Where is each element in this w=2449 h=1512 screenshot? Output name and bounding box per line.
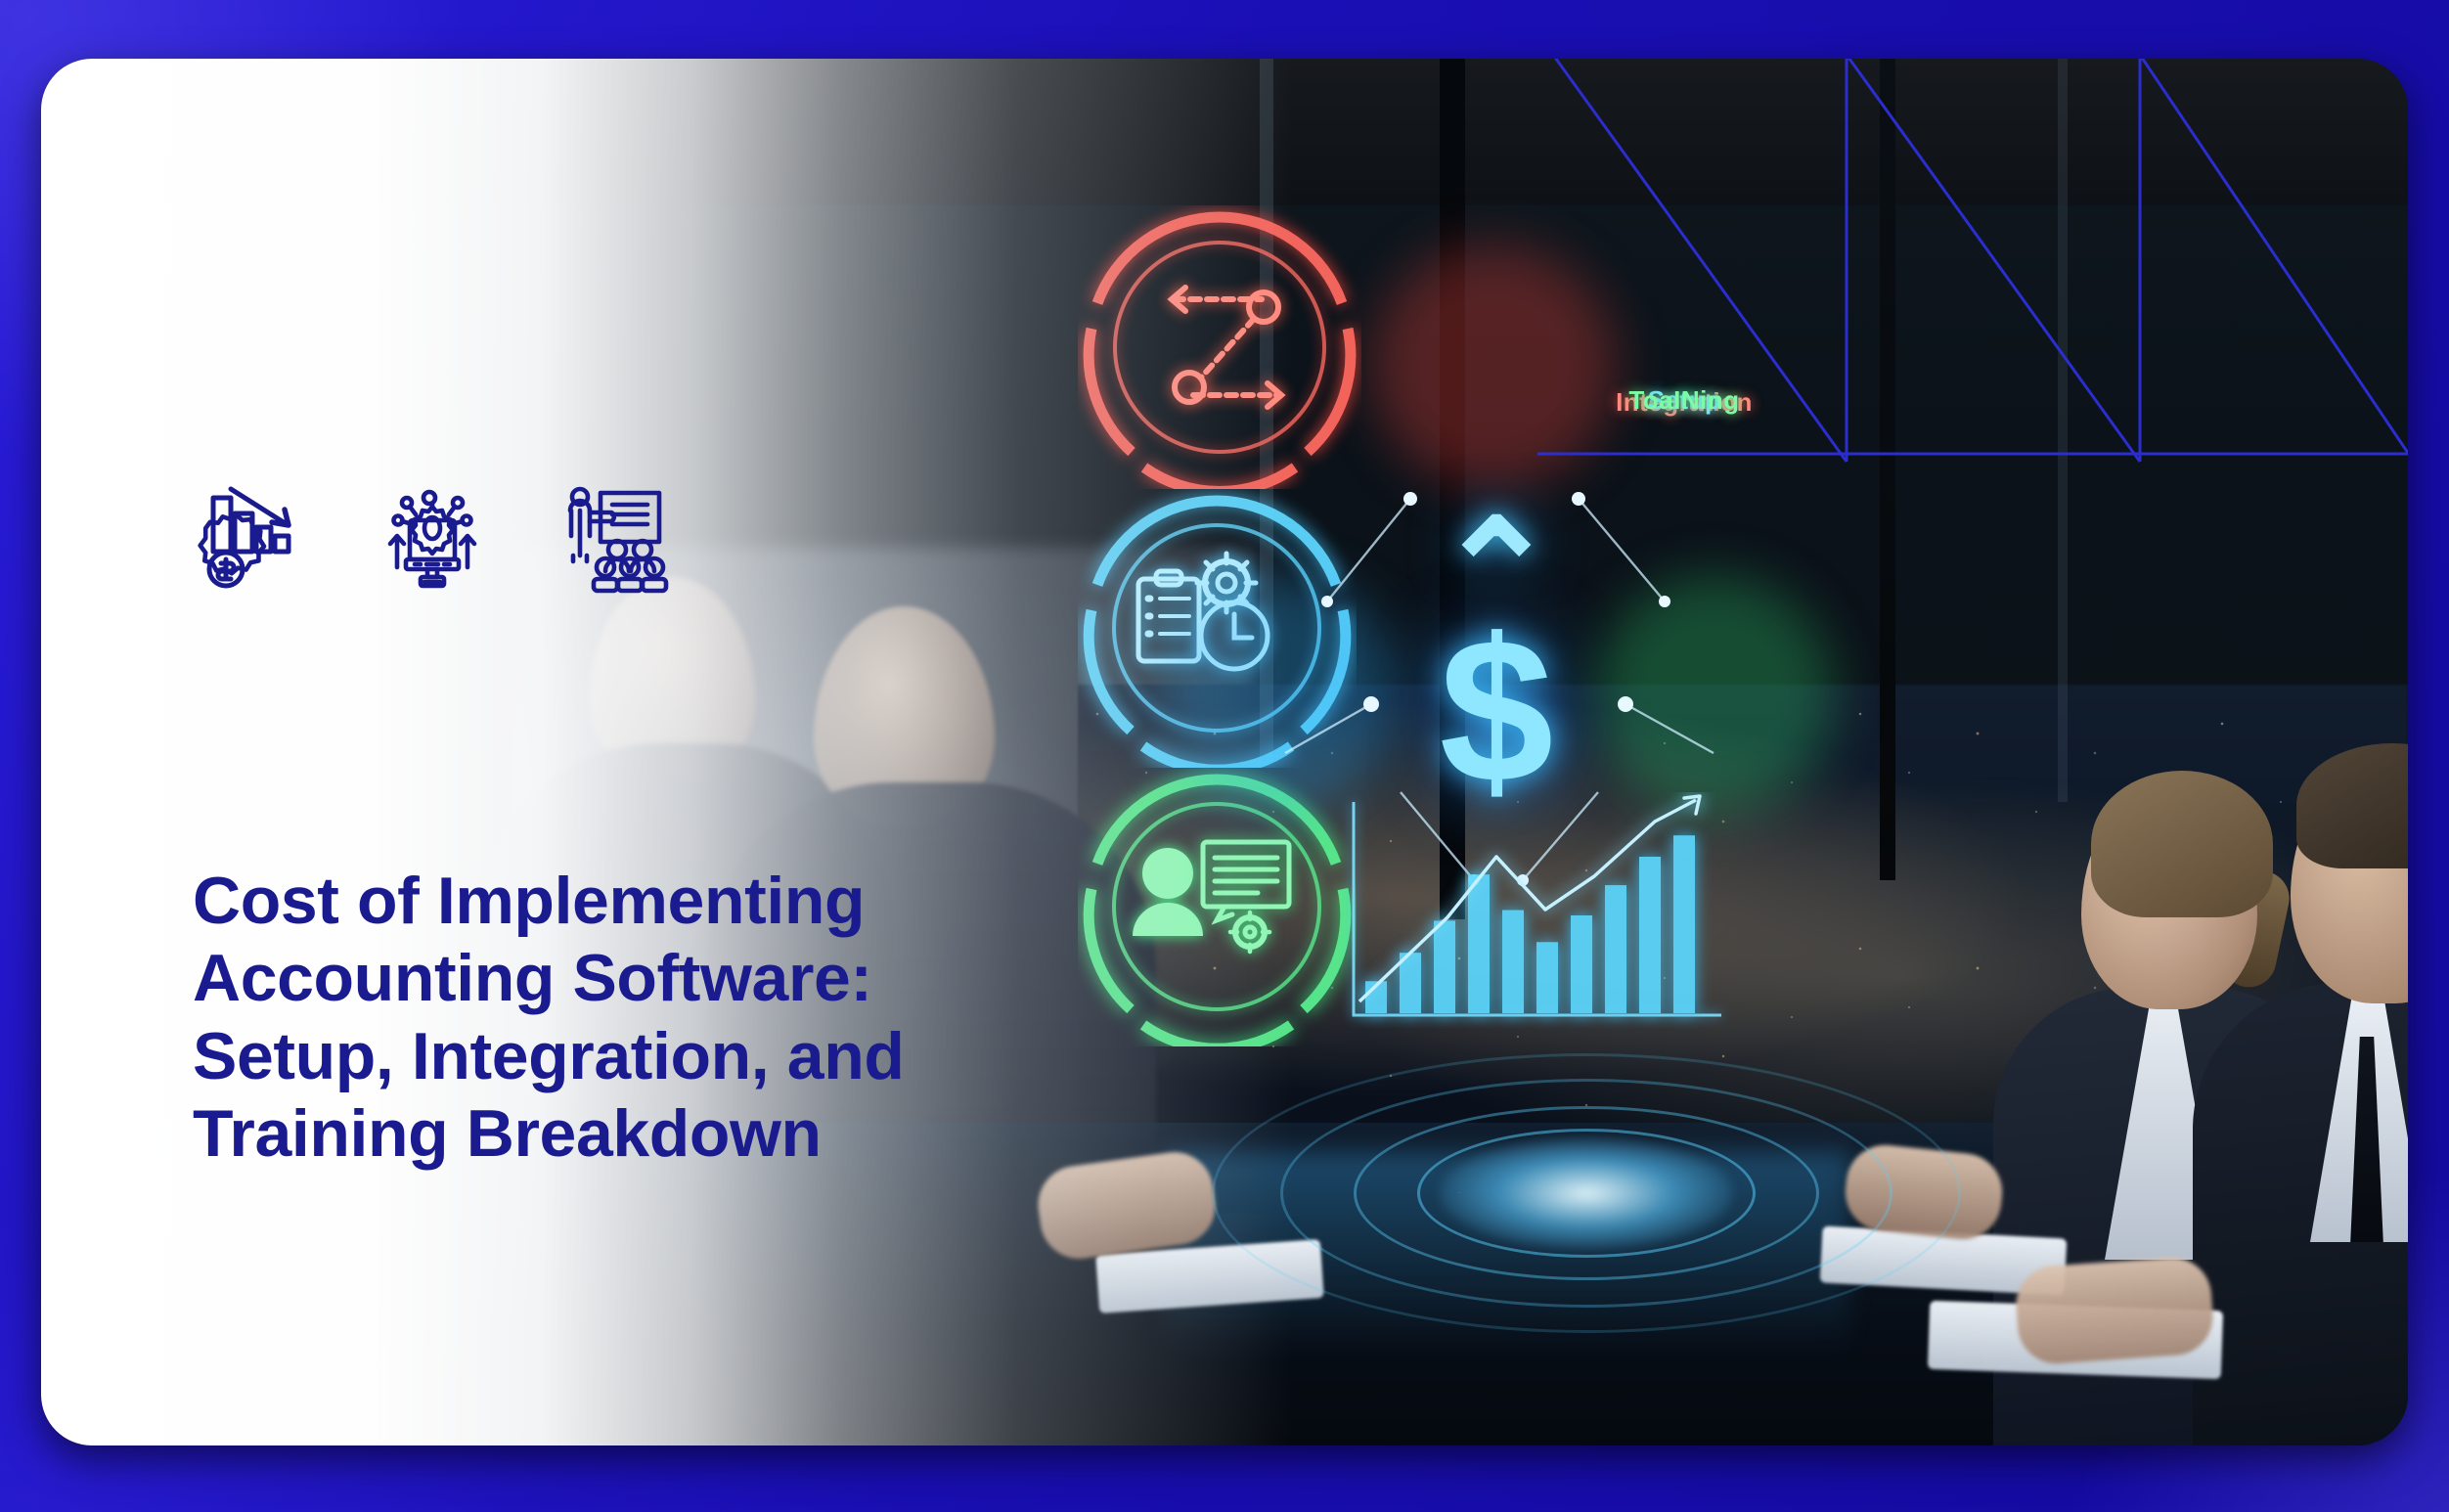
title-line-3: Setup, Integration, and (193, 1018, 1171, 1096)
window-frame-2 (1880, 59, 1895, 880)
title-line-1: Cost of Implementing (193, 863, 1171, 941)
title-line-2: Accounting Software: (193, 940, 1171, 1018)
hero-card: Integration (41, 59, 2408, 1445)
hand-right (2014, 1255, 2215, 1366)
system-integration-icon (374, 481, 491, 599)
training-presentation-icon (559, 481, 677, 599)
cost-reduction-icon (188, 481, 305, 599)
feature-icon-row (188, 481, 677, 599)
outer-blue-frame: Integration (0, 0, 2449, 1512)
person-woman-hair (2091, 771, 2273, 917)
left-white-gradient (41, 59, 1293, 1445)
window-frame-1 (1440, 59, 1465, 919)
window-frame-4 (2058, 59, 2068, 802)
title-line-4: Training Breakdown (193, 1095, 1171, 1174)
page-title: Cost of Implementing Accounting Software… (193, 863, 1171, 1174)
